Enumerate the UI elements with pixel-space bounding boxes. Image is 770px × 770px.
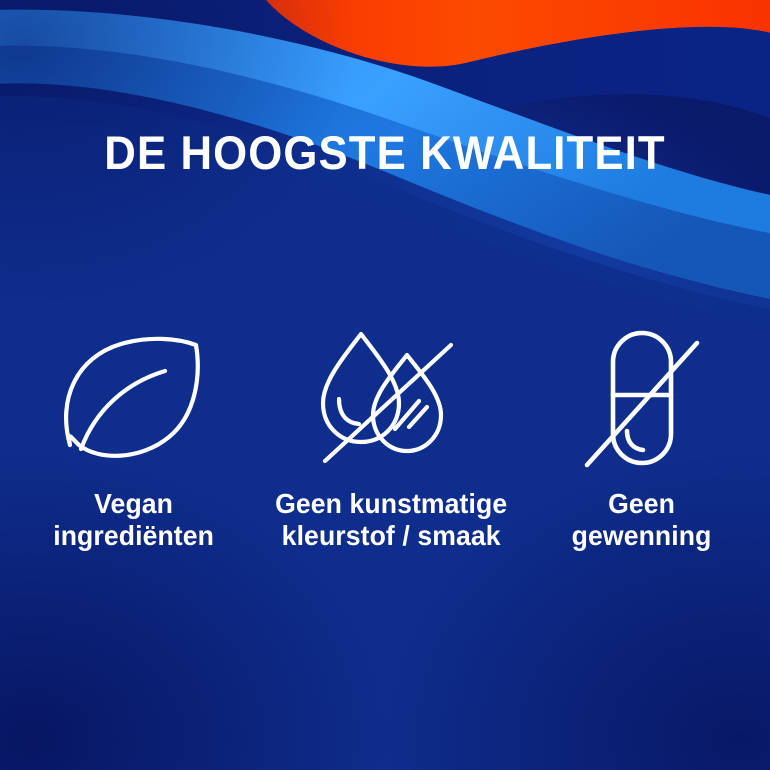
feature-label-line2: kleurstof / smaak (275, 520, 507, 552)
feature-label-no-artificial: Geen kunstmatige kleurstof / smaak (275, 488, 507, 553)
no-capsule-icon (577, 322, 707, 474)
feature-label-line2: ingrediënten (54, 520, 215, 552)
feature-item-no-artificial: Geen kunstmatige kleurstof / smaak (250, 322, 532, 553)
feature-item-vegan: Vegan ingrediënten (18, 322, 250, 553)
quality-banner: DE HOOGSTE KWALITEIT Vegan ingrediënten (0, 0, 770, 770)
feature-list: Vegan ingrediënten (18, 322, 752, 553)
feature-label-line1: Geen kunstmatige (275, 488, 507, 519)
feature-label-line1: Geen (609, 488, 676, 519)
feature-item-no-habit: Geen gewenning (532, 322, 752, 553)
feature-label-line2: gewenning (572, 520, 712, 552)
feature-label-no-habit: Geen gewenning (572, 488, 712, 553)
page-title: DE HOOGSTE KWALITEIT (27, 128, 743, 177)
leaf-icon (59, 322, 209, 474)
no-water-drops-icon (311, 322, 471, 474)
feature-label-vegan: Vegan ingrediënten (54, 488, 215, 553)
feature-label-line1: Vegan (95, 488, 174, 519)
